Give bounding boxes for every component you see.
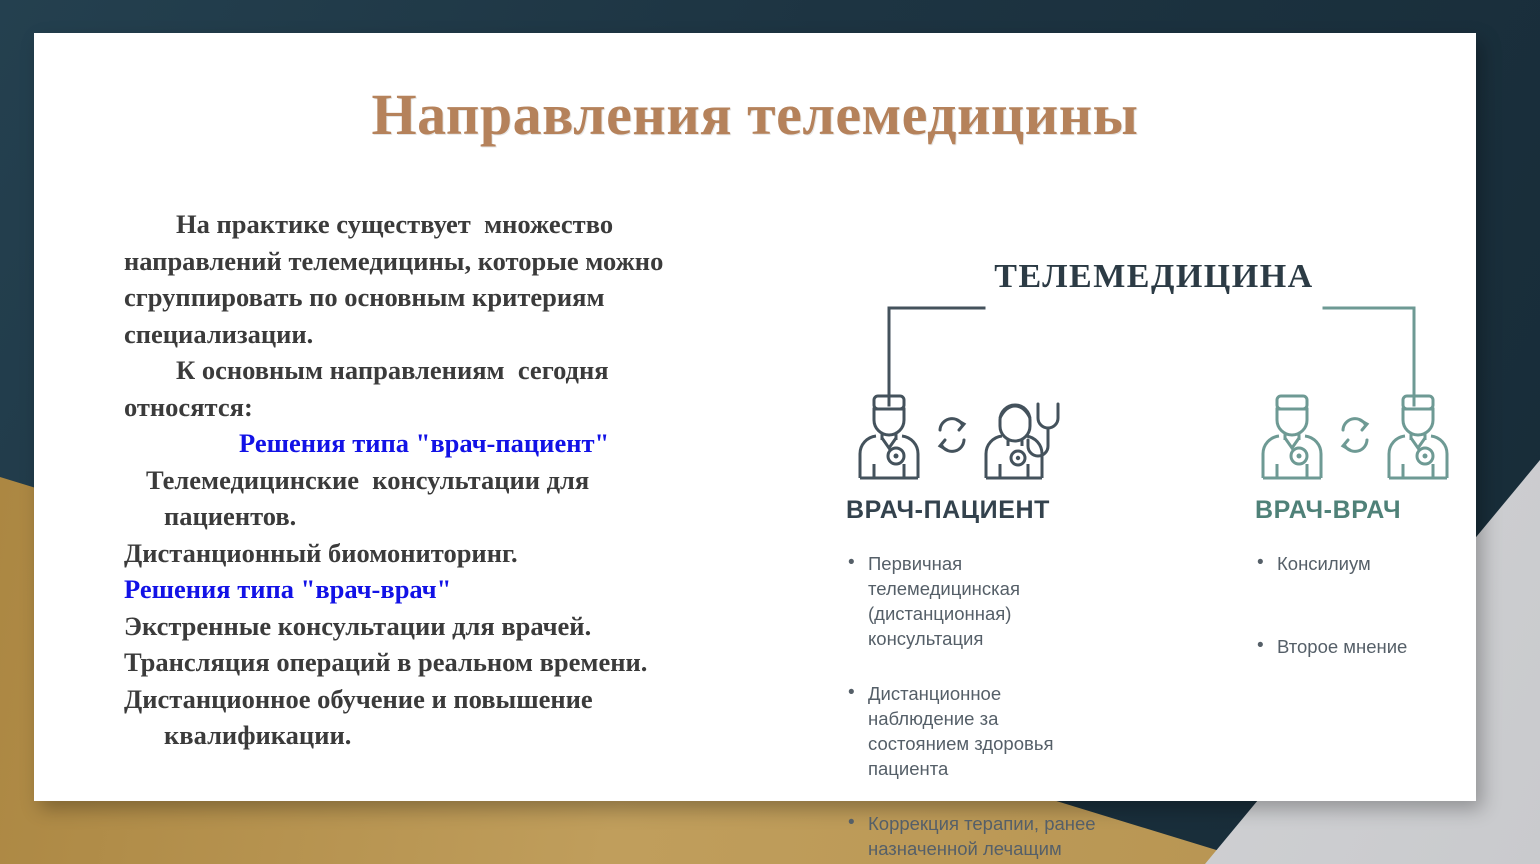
bullet-item: Второе мнение bbox=[1255, 634, 1519, 659]
paragraph-line: относятся: bbox=[124, 389, 734, 426]
bullet-item: Коррекция терапии, ранее назначенной леч… bbox=[846, 811, 1104, 864]
paragraph-line: специализации. bbox=[124, 316, 734, 353]
exchange-arrows-icon bbox=[1333, 390, 1377, 482]
list-item: Трансляция операций в реальном времени. bbox=[124, 644, 734, 681]
doctor-doctor-icon-group bbox=[1219, 386, 1519, 482]
list-item-heading-doctor-doctor: Решения типа "врач-врач" bbox=[124, 571, 734, 608]
doctor-icon bbox=[1381, 390, 1455, 482]
paragraph-line: направлений телемедицины, которые можно bbox=[124, 243, 734, 280]
bullet-item: Консилиум bbox=[1255, 551, 1519, 576]
exchange-arrows-icon bbox=[930, 390, 974, 482]
doctor-doctor-bullet-list: Консилиум Второе мнение bbox=[1219, 551, 1519, 659]
paragraph-line: сгруппировать по основным критериям bbox=[124, 279, 734, 316]
doctor-icon bbox=[1255, 390, 1329, 482]
list-item-heading-doctor-patient: Решения типа "врач-пациент" bbox=[124, 425, 734, 462]
presentation-slide: Направления телемедицины На практике сущ… bbox=[0, 0, 1540, 864]
bullet-item: Первичная телемедицинская (дистанционная… bbox=[846, 551, 1104, 651]
slide-content-card: Направления телемедицины На практике сущ… bbox=[34, 33, 1476, 801]
patient-with-stethoscope-icon bbox=[978, 390, 1064, 482]
list-item: Дистанционный биомониторинг. bbox=[124, 535, 734, 572]
telemedicine-infographic: ТЕЛЕМЕДИЦИНА bbox=[794, 258, 1514, 788]
doctor-icon bbox=[852, 390, 926, 482]
branch-label-doctor-doctor: ВРАЧ-ВРАЧ bbox=[1219, 496, 1519, 525]
paragraph-line: К основным направлениям сегодня bbox=[124, 352, 734, 389]
doctor-patient-icon-group bbox=[804, 386, 1104, 482]
list-item: Дистанционное обучение и повышение bbox=[124, 681, 734, 718]
paragraph-intro: На практике существует множество bbox=[124, 206, 734, 243]
bullet-item: Дистанционное наблюдение за состоянием з… bbox=[846, 681, 1104, 781]
list-item: пациентов. bbox=[124, 498, 734, 535]
list-item: Экстренные консультации для врачей. bbox=[124, 608, 734, 645]
branch-doctor-doctor: ВРАЧ-ВРАЧ Консилиум Второе мнение bbox=[1219, 386, 1519, 659]
list-item: квалификации. bbox=[124, 717, 734, 754]
branch-label-doctor-patient: ВРАЧ-ПАЦИЕНТ bbox=[804, 496, 1104, 525]
slide-body-text: На практике существует множество направл… bbox=[124, 206, 734, 754]
list-item: Телемедицинские консультации для bbox=[124, 462, 734, 499]
branch-doctor-patient: ВРАЧ-ПАЦИЕНТ Первичная телемедицинская (… bbox=[804, 386, 1104, 864]
paragraph-line: На практике существует множество bbox=[124, 206, 734, 243]
doctor-patient-bullet-list: Первичная телемедицинская (дистанционная… bbox=[804, 551, 1104, 864]
slide-title: Направления телемедицины bbox=[34, 81, 1476, 148]
